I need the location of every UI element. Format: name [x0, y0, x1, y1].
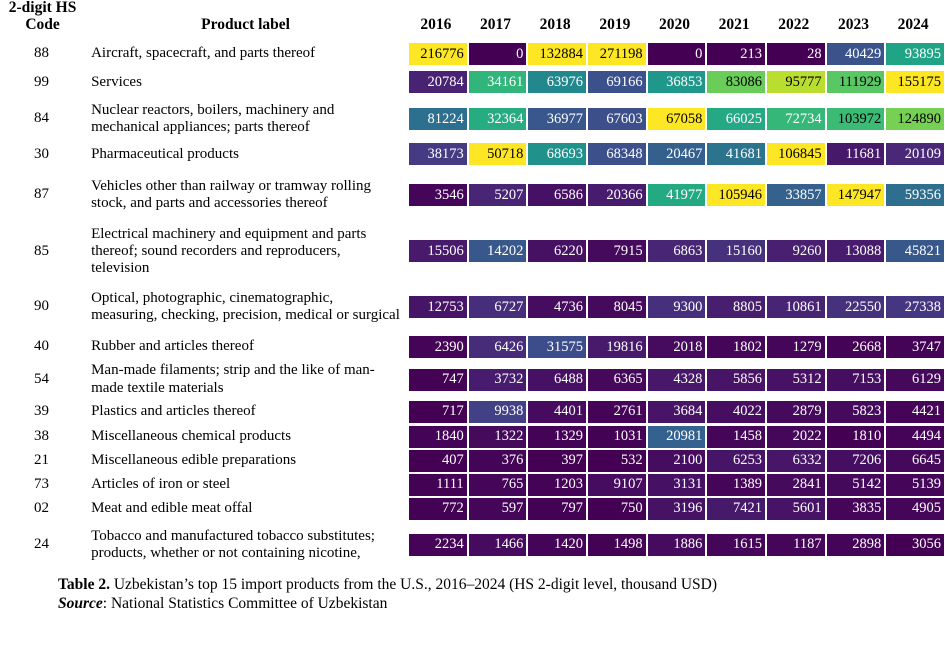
header-year-2023: 2023: [826, 0, 886, 39]
heatmap-cell-value: 83086: [707, 71, 765, 93]
header-product-label: Product label: [83, 0, 408, 39]
caption-line-source: Source: National Statistics Committee of…: [58, 594, 937, 613]
product-label-cell: Services: [83, 68, 408, 96]
heatmap-cell: 7153: [826, 360, 886, 398]
heatmap-cell-value: 67058: [648, 108, 706, 130]
heatmap-cell-value: 38173: [409, 143, 467, 165]
heatmap-cell-value: 36853: [648, 71, 706, 93]
heatmap-cell: 797: [527, 497, 587, 521]
heatmap-cell-value: 6586: [528, 184, 586, 206]
heatmap-cell: 1203: [527, 473, 587, 497]
heatmap-cell-value: 40429: [827, 43, 885, 65]
caption-source-label: Source: [58, 595, 103, 612]
heatmap-cell: 6645: [885, 449, 945, 473]
heatmap-cell-value: 5856: [707, 369, 765, 391]
heatmap-cell-value: 20981: [648, 426, 706, 448]
heatmap-cell-value: 0: [469, 43, 527, 65]
heatmap-cell: 5207: [468, 167, 528, 222]
heatmap-cell: 2390: [408, 333, 468, 360]
heatmap-cell-value: 41681: [707, 143, 765, 165]
header-year-2022: 2022: [766, 0, 826, 39]
heatmap-cell: 45821: [885, 222, 945, 280]
heatmap-cell-value: 8045: [588, 296, 646, 318]
heatmap-cell-value: 66025: [707, 108, 765, 130]
heatmap-cell-value: 4328: [648, 369, 706, 391]
table-row: 21Miscellaneous edible preparations40737…: [0, 449, 945, 473]
heatmap-cell-value: 8805: [707, 296, 765, 318]
heatmap-cell-value: 3732: [469, 369, 527, 391]
heatmap-cell-value: 6488: [528, 369, 586, 391]
product-label-cell: Miscellaneous edible preparations: [83, 449, 408, 473]
heatmap-cell-value: 5142: [827, 474, 885, 496]
heatmap-cell: 2018: [647, 333, 707, 360]
heatmap-cell: 13088: [826, 222, 886, 280]
hs-code-cell: 30: [0, 141, 83, 167]
heatmap-cell: 9107: [587, 473, 647, 497]
heatmap-cell-value: 20109: [886, 143, 944, 165]
heatmap-cell: 67058: [647, 96, 707, 141]
heatmap-cell: 6863: [647, 222, 707, 280]
heatmap-cell: 27338: [885, 280, 945, 333]
header-year-2021: 2021: [706, 0, 766, 39]
heatmap-cell: 3684: [647, 399, 707, 425]
heatmap-cell: 2898: [826, 521, 886, 569]
heatmap-cell-value: 81224: [409, 108, 467, 130]
heatmap-cell: 376: [468, 449, 528, 473]
header-row: 2-digit HS Code Product label 2016 2017 …: [0, 0, 945, 39]
heatmap-cell: 5312: [766, 360, 826, 398]
heatmap-cell-value: 41977: [648, 184, 706, 206]
heatmap-cell: 3732: [468, 360, 528, 398]
header-hs-code-line2: Code: [25, 16, 59, 33]
heatmap-cell-value: 50718: [469, 143, 527, 165]
heatmap-cell: 1111: [408, 473, 468, 497]
heatmap-cell: 66025: [706, 96, 766, 141]
heatmap-cell-value: 4905: [886, 498, 944, 520]
figure-caption: Table 2. Uzbekistan’s top 15 import prod…: [0, 575, 945, 614]
heatmap-cell: 213: [706, 39, 766, 68]
table-row: 90Optical, photographic, cinematographic…: [0, 280, 945, 333]
hs-code-cell: 02: [0, 497, 83, 521]
caption-table-label: Table 2.: [58, 576, 110, 593]
caption-line-table: Table 2. Uzbekistan’s top 15 import prod…: [58, 575, 937, 594]
heatmap-cell: 4736: [527, 280, 587, 333]
heatmap-cell-value: 4736: [528, 296, 586, 318]
product-label-cell: Nuclear reactors, boilers, machinery and…: [83, 96, 408, 141]
heatmap-cell-value: 6863: [648, 240, 706, 262]
heatmap-cell-value: 7421: [707, 498, 765, 520]
heatmap-cell-value: 32364: [469, 108, 527, 130]
heatmap-cell: 1187: [766, 521, 826, 569]
heatmap-cell-value: 69166: [588, 71, 646, 93]
heatmap-cell-value: 7915: [588, 240, 646, 262]
heatmap-cell: 6220: [527, 222, 587, 280]
heatmap-cell-value: 765: [469, 474, 527, 496]
hs-code-cell: 73: [0, 473, 83, 497]
hs-code-cell: 87: [0, 167, 83, 222]
header-year-2020: 2020: [647, 0, 707, 39]
heatmap-cell: 765: [468, 473, 528, 497]
heatmap-cell: 397: [527, 449, 587, 473]
hs-code-cell: 38: [0, 425, 83, 449]
heatmap-cell: 1886: [647, 521, 707, 569]
heatmap-cell: 6586: [527, 167, 587, 222]
heatmap-cell: 4401: [527, 399, 587, 425]
heatmap-cell-value: 2761: [588, 401, 646, 423]
heatmap-cell: 8805: [706, 280, 766, 333]
heatmap-cell-value: 63976: [528, 71, 586, 93]
heatmap-cell: 2022: [766, 425, 826, 449]
heatmap-cell: 36853: [647, 68, 707, 96]
heatmap-cell-value: 95777: [767, 71, 825, 93]
heatmap-cell: 9300: [647, 280, 707, 333]
header-year-2017: 2017: [468, 0, 528, 39]
heatmap-cell-value: 3546: [409, 184, 467, 206]
heatmap-cell-value: 2879: [767, 401, 825, 423]
table-row: 40Rubber and articles thereof23906426315…: [0, 333, 945, 360]
heatmap-cell: 38173: [408, 141, 468, 167]
heatmap-cell-value: 31575: [528, 336, 586, 358]
heatmap-cell-value: 7206: [827, 450, 885, 472]
import-products-heatmap-table: 2-digit HS Code Product label 2016 2017 …: [0, 0, 945, 569]
heatmap-cell: 597: [468, 497, 528, 521]
heatmap-cell: 41977: [647, 167, 707, 222]
heatmap-cell-value: 9938: [469, 401, 527, 423]
heatmap-cell: 28: [766, 39, 826, 68]
heatmap-cell-value: 3056: [886, 534, 944, 556]
heatmap-cell: 20784: [408, 68, 468, 96]
heatmap-cell: 3131: [647, 473, 707, 497]
hs-code-cell: 24: [0, 521, 83, 569]
heatmap-cell: 1498: [587, 521, 647, 569]
heatmap-cell: 69166: [587, 68, 647, 96]
heatmap-cell: 1840: [408, 425, 468, 449]
heatmap-cell-value: 397: [528, 450, 586, 472]
heatmap-cell-value: 6645: [886, 450, 944, 472]
heatmap-cell-value: 93895: [886, 43, 944, 65]
heatmap-cell: 6488: [527, 360, 587, 398]
heatmap-cell: 2841: [766, 473, 826, 497]
heatmap-cell-value: 9107: [588, 474, 646, 496]
table-header: 2-digit HS Code Product label 2016 2017 …: [0, 0, 945, 39]
heatmap-cell: 34161: [468, 68, 528, 96]
heatmap-cell: 106845: [766, 141, 826, 167]
heatmap-cell: 11681: [826, 141, 886, 167]
product-label-cell: Miscellaneous chemical products: [83, 425, 408, 449]
heatmap-cell: 36977: [527, 96, 587, 141]
heatmap-cell-value: 124890: [886, 108, 944, 130]
heatmap-cell-value: 1466: [469, 534, 527, 556]
heatmap-cell-value: 1203: [528, 474, 586, 496]
table-row: 38Miscellaneous chemical products1840132…: [0, 425, 945, 449]
heatmap-cell: 1389: [706, 473, 766, 497]
heatmap-cell: 5139: [885, 473, 945, 497]
table-row: 30Pharmaceutical products381735071868693…: [0, 141, 945, 167]
header-year-2024: 2024: [885, 0, 945, 39]
heatmap-cell: 2668: [826, 333, 886, 360]
heatmap-cell: 20981: [647, 425, 707, 449]
heatmap-cell: 147947: [826, 167, 886, 222]
heatmap-cell: 4905: [885, 497, 945, 521]
heatmap-cell: 0: [647, 39, 707, 68]
heatmap-cell-value: 407: [409, 450, 467, 472]
heatmap-cell: 111929: [826, 68, 886, 96]
heatmap-cell-value: 155175: [886, 71, 944, 93]
heatmap-cell-value: 4401: [528, 401, 586, 423]
heatmap-cell: 68348: [587, 141, 647, 167]
product-label-cell: Tobacco and manufactured tobacco substit…: [83, 521, 408, 569]
heatmap-cell-value: 15160: [707, 240, 765, 262]
header-year-2019: 2019: [587, 0, 647, 39]
heatmap-cell: 4328: [647, 360, 707, 398]
heatmap-cell: 2100: [647, 449, 707, 473]
heatmap-cell: 5601: [766, 497, 826, 521]
heatmap-cell: 2761: [587, 399, 647, 425]
heatmap-cell-value: 3747: [886, 336, 944, 358]
heatmap-cell: 0: [468, 39, 528, 68]
heatmap-cell-value: 20784: [409, 71, 467, 93]
heatmap-cell-value: 5823: [827, 401, 885, 423]
heatmap-cell-value: 1498: [588, 534, 646, 556]
heatmap-cell-value: 68348: [588, 143, 646, 165]
table-row: 87Vehicles other than railway or tramway…: [0, 167, 945, 222]
heatmap-cell-value: 111929: [827, 71, 885, 93]
heatmap-cell-value: 1420: [528, 534, 586, 556]
heatmap-cell-value: 147947: [827, 184, 885, 206]
heatmap-cell-value: 68693: [528, 143, 586, 165]
header-year-2018: 2018: [527, 0, 587, 39]
heatmap-cell: 8045: [587, 280, 647, 333]
heatmap-cell: 31575: [527, 333, 587, 360]
heatmap-cell-value: 5312: [767, 369, 825, 391]
heatmap-cell: 747: [408, 360, 468, 398]
product-label-cell: Vehicles other than railway or tramway r…: [83, 167, 408, 222]
header-hs-code: 2-digit HS Code: [0, 0, 83, 39]
heatmap-cell-value: 1840: [409, 426, 467, 448]
heatmap-cell: 9260: [766, 222, 826, 280]
heatmap-cell: 717: [408, 399, 468, 425]
heatmap-cell-value: 19816: [588, 336, 646, 358]
heatmap-cell: 19816: [587, 333, 647, 360]
heatmap-cell-value: 1329: [528, 426, 586, 448]
product-label-cell: Articles of iron or steel: [83, 473, 408, 497]
heatmap-cell-value: 1810: [827, 426, 885, 448]
heatmap-cell: 7206: [826, 449, 886, 473]
heatmap-cell-value: 6426: [469, 336, 527, 358]
heatmap-cell-value: 2018: [648, 336, 706, 358]
table-row: 99Services207843416163976691663685383086…: [0, 68, 945, 96]
heatmap-cell: 532: [587, 449, 647, 473]
hs-code-cell: 99: [0, 68, 83, 96]
heatmap-cell: 103972: [826, 96, 886, 141]
table-figure: 2-digit HS Code Product label 2016 2017 …: [0, 0, 945, 661]
heatmap-cell-value: 1111: [409, 474, 467, 496]
heatmap-cell: 750: [587, 497, 647, 521]
heatmap-cell-value: 747: [409, 369, 467, 391]
heatmap-cell: 155175: [885, 68, 945, 96]
heatmap-cell: 1031: [587, 425, 647, 449]
heatmap-cell: 407: [408, 449, 468, 473]
heatmap-cell: 1279: [766, 333, 826, 360]
heatmap-cell-value: 3684: [648, 401, 706, 423]
heatmap-cell: 95777: [766, 68, 826, 96]
heatmap-cell-value: 5601: [767, 498, 825, 520]
heatmap-cell-value: 0: [648, 43, 706, 65]
hs-code-cell: 21: [0, 449, 83, 473]
product-label-cell: Man-made filaments; strip and the like o…: [83, 360, 408, 398]
heatmap-cell: 6727: [468, 280, 528, 333]
header-year-2016: 2016: [408, 0, 468, 39]
heatmap-cell: 6253: [706, 449, 766, 473]
heatmap-cell: 2879: [766, 399, 826, 425]
heatmap-cell: 3056: [885, 521, 945, 569]
heatmap-cell-value: 67603: [588, 108, 646, 130]
heatmap-cell: 63976: [527, 68, 587, 96]
heatmap-cell-value: 1031: [588, 426, 646, 448]
hs-code-cell: 88: [0, 39, 83, 68]
heatmap-cell-value: 36977: [528, 108, 586, 130]
heatmap-cell-value: 2841: [767, 474, 825, 496]
hs-code-cell: 90: [0, 280, 83, 333]
heatmap-cell-value: 772: [409, 498, 467, 520]
heatmap-cell: 7421: [706, 497, 766, 521]
heatmap-cell-value: 1802: [707, 336, 765, 358]
heatmap-cell-value: 3131: [648, 474, 706, 496]
heatmap-cell-value: 1886: [648, 534, 706, 556]
heatmap-cell-value: 4022: [707, 401, 765, 423]
heatmap-cell-value: 5139: [886, 474, 944, 496]
hs-code-cell: 85: [0, 222, 83, 280]
heatmap-cell: 5823: [826, 399, 886, 425]
heatmap-cell-value: 12753: [409, 296, 467, 318]
heatmap-cell-value: 1322: [469, 426, 527, 448]
heatmap-cell: 271198: [587, 39, 647, 68]
heatmap-cell-value: 4494: [886, 426, 944, 448]
heatmap-cell: 7915: [587, 222, 647, 280]
heatmap-cell-value: 6727: [469, 296, 527, 318]
heatmap-cell-value: 132884: [528, 43, 586, 65]
table-row: 39Plastics and articles thereof717993844…: [0, 399, 945, 425]
heatmap-cell-value: 7153: [827, 369, 885, 391]
heatmap-cell: 81224: [408, 96, 468, 141]
heatmap-cell: 1802: [706, 333, 766, 360]
hs-code-cell: 84: [0, 96, 83, 141]
heatmap-cell: 9938: [468, 399, 528, 425]
heatmap-cell: 4494: [885, 425, 945, 449]
heatmap-cell-value: 1187: [767, 534, 825, 556]
heatmap-cell-value: 597: [469, 498, 527, 520]
heatmap-cell: 216776: [408, 39, 468, 68]
heatmap-cell-value: 14202: [469, 240, 527, 262]
product-label-cell: Meat and edible meat offal: [83, 497, 408, 521]
table-row: 73Articles of iron or steel1111765120391…: [0, 473, 945, 497]
table-row: 54Man-made filaments; strip and the like…: [0, 360, 945, 398]
heatmap-cell-value: 27338: [886, 296, 944, 318]
heatmap-cell-value: 103972: [827, 108, 885, 130]
heatmap-cell-value: 22550: [827, 296, 885, 318]
heatmap-cell: 6365: [587, 360, 647, 398]
hs-code-cell: 39: [0, 399, 83, 425]
heatmap-cell-value: 28: [767, 43, 825, 65]
heatmap-cell-value: 271198: [588, 43, 646, 65]
heatmap-cell-value: 15506: [409, 240, 467, 262]
product-label-cell: Aircraft, spacecraft, and parts thereof: [83, 39, 408, 68]
heatmap-cell: 1458: [706, 425, 766, 449]
heatmap-cell-value: 9260: [767, 240, 825, 262]
heatmap-cell: 32364: [468, 96, 528, 141]
table-body: 88Aircraft, spacecraft, and parts thereo…: [0, 39, 945, 568]
heatmap-cell: 22550: [826, 280, 886, 333]
heatmap-cell: 1810: [826, 425, 886, 449]
product-label-cell: Optical, photographic, cinematographic, …: [83, 280, 408, 333]
heatmap-cell: 5142: [826, 473, 886, 497]
heatmap-cell-value: 9300: [648, 296, 706, 318]
heatmap-cell: 20366: [587, 167, 647, 222]
heatmap-cell: 15160: [706, 222, 766, 280]
heatmap-cell-value: 10861: [767, 296, 825, 318]
heatmap-cell-value: 2668: [827, 336, 885, 358]
heatmap-cell: 72734: [766, 96, 826, 141]
heatmap-cell: 20109: [885, 141, 945, 167]
heatmap-cell: 6129: [885, 360, 945, 398]
heatmap-cell: 67603: [587, 96, 647, 141]
heatmap-cell-value: 750: [588, 498, 646, 520]
heatmap-cell: 12753: [408, 280, 468, 333]
table-row: 24Tobacco and manufactured tobacco subst…: [0, 521, 945, 569]
heatmap-cell: 3747: [885, 333, 945, 360]
heatmap-cell: 1615: [706, 521, 766, 569]
heatmap-cell-value: 2234: [409, 534, 467, 556]
heatmap-cell: 33857: [766, 167, 826, 222]
heatmap-cell-value: 3835: [827, 498, 885, 520]
heatmap-cell: 20467: [647, 141, 707, 167]
heatmap-cell: 132884: [527, 39, 587, 68]
heatmap-cell-value: 2100: [648, 450, 706, 472]
heatmap-cell: 5856: [706, 360, 766, 398]
heatmap-cell-value: 717: [409, 401, 467, 423]
heatmap-cell-value: 11681: [827, 143, 885, 165]
table-row: 84Nuclear reactors, boilers, machinery a…: [0, 96, 945, 141]
heatmap-cell: 10861: [766, 280, 826, 333]
caption-source-text: : National Statistics Committee of Uzbek…: [103, 595, 388, 612]
heatmap-cell-value: 59356: [886, 184, 944, 206]
heatmap-cell-value: 6332: [767, 450, 825, 472]
heatmap-cell-value: 5207: [469, 184, 527, 206]
heatmap-cell: 83086: [706, 68, 766, 96]
heatmap-cell: 1466: [468, 521, 528, 569]
heatmap-cell: 2234: [408, 521, 468, 569]
heatmap-cell: 15506: [408, 222, 468, 280]
caption-table-text: Uzbekistan’s top 15 import products from…: [110, 576, 717, 593]
heatmap-cell-value: 6129: [886, 369, 944, 391]
heatmap-cell: 59356: [885, 167, 945, 222]
heatmap-cell-value: 1279: [767, 336, 825, 358]
heatmap-cell-value: 106845: [767, 143, 825, 165]
heatmap-cell-value: 797: [528, 498, 586, 520]
heatmap-cell-value: 6253: [707, 450, 765, 472]
heatmap-cell: 6332: [766, 449, 826, 473]
heatmap-cell-value: 1458: [707, 426, 765, 448]
heatmap-cell: 124890: [885, 96, 945, 141]
heatmap-cell-value: 532: [588, 450, 646, 472]
heatmap-cell-value: 6220: [528, 240, 586, 262]
heatmap-cell-value: 216776: [409, 43, 467, 65]
heatmap-cell-value: 3196: [648, 498, 706, 520]
heatmap-cell-value: 213: [707, 43, 765, 65]
heatmap-cell: 14202: [468, 222, 528, 280]
heatmap-cell: 41681: [706, 141, 766, 167]
header-hs-code-line1: 2-digit HS: [9, 0, 77, 16]
